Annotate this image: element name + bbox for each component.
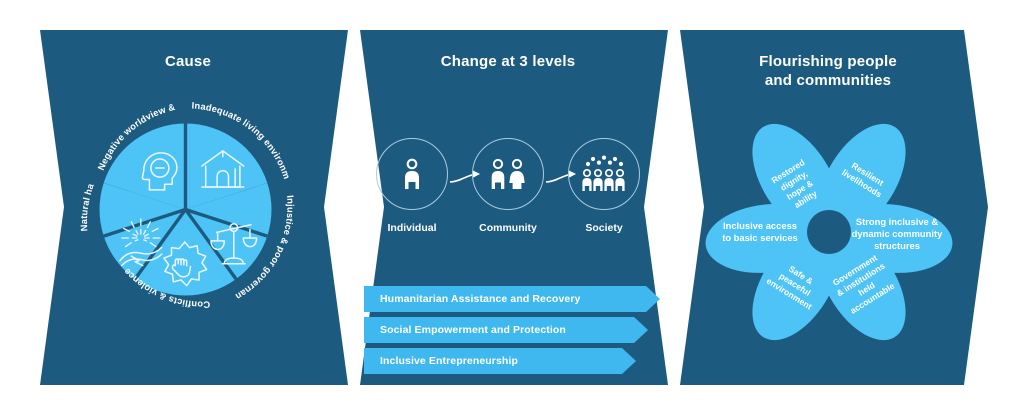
banner-social-empowerment-label: Social Empowerment and Protection [380, 317, 566, 343]
level-individual-label: Individual [372, 222, 452, 234]
level-individual-circle [376, 138, 448, 210]
banner-inclusive-entrepreneurship-label: Inclusive Entrepreneurship [380, 348, 518, 374]
flower-svg: Restored dignity, hope & ability Resilie… [698, 110, 960, 355]
level-community-label: Community [468, 222, 548, 234]
pie-label-natural-hazards: Natural hazards [75, 94, 96, 232]
flower-center [807, 210, 851, 254]
banner-social-empowerment[interactable]: Social Empowerment and Protection [364, 317, 660, 343]
svg-text:dynamic community: dynamic community [852, 228, 943, 239]
level-society-circle [568, 138, 640, 210]
banner-humanitarian-assistance-label: Humanitarian Assistance and Recovery [380, 286, 580, 312]
svg-text:to basic services: to basic services [722, 232, 798, 243]
svg-text:Inclusive access: Inclusive access [723, 220, 797, 231]
change-levels: Individual Community [372, 138, 644, 258]
banner-humanitarian-assistance[interactable]: Humanitarian Assistance and Recovery [364, 286, 660, 312]
single-person-icon [399, 158, 425, 190]
level-society-label: Society [564, 222, 644, 234]
panel-flourish-title-line2: and communities [668, 71, 988, 90]
panel-change: Change at 3 levels Individual [348, 30, 668, 385]
level-individual[interactable]: Individual [372, 138, 452, 234]
flourish-flower-diagram: Restored dignity, hope & ability Resilie… [698, 110, 960, 355]
panel-cause-title: Cause [28, 52, 348, 71]
cause-pie-svg: Negative worldview & minds Inadequate li… [78, 102, 293, 317]
svg-text:structures: structures [874, 240, 920, 251]
cause-pie-chart: Negative worldview & minds Inadequate li… [78, 102, 293, 317]
banner-inclusive-entrepreneurship[interactable]: Inclusive Entrepreneurship [364, 348, 660, 374]
infographic-canvas: Cause [0, 0, 1024, 417]
panel-flourish: Flourishing people and communities [668, 30, 988, 385]
panel-cause: Cause [28, 30, 348, 385]
panel-flourish-title-line1: Flourishing people [668, 52, 988, 71]
petal-label-inclusive-access: Inclusive access to basic services [722, 220, 798, 243]
change-banner-list: Humanitarian Assistance and Recovery Soc… [364, 286, 660, 379]
svg-text:Strong inclusive &: Strong inclusive & [856, 216, 939, 227]
two-people-icon [487, 158, 529, 190]
level-community-circle [472, 138, 544, 210]
level-society[interactable]: Society [564, 138, 644, 234]
panel-change-title: Change at 3 levels [348, 52, 668, 71]
level-community[interactable]: Community [468, 138, 548, 234]
crowd-people-icon [579, 155, 629, 193]
